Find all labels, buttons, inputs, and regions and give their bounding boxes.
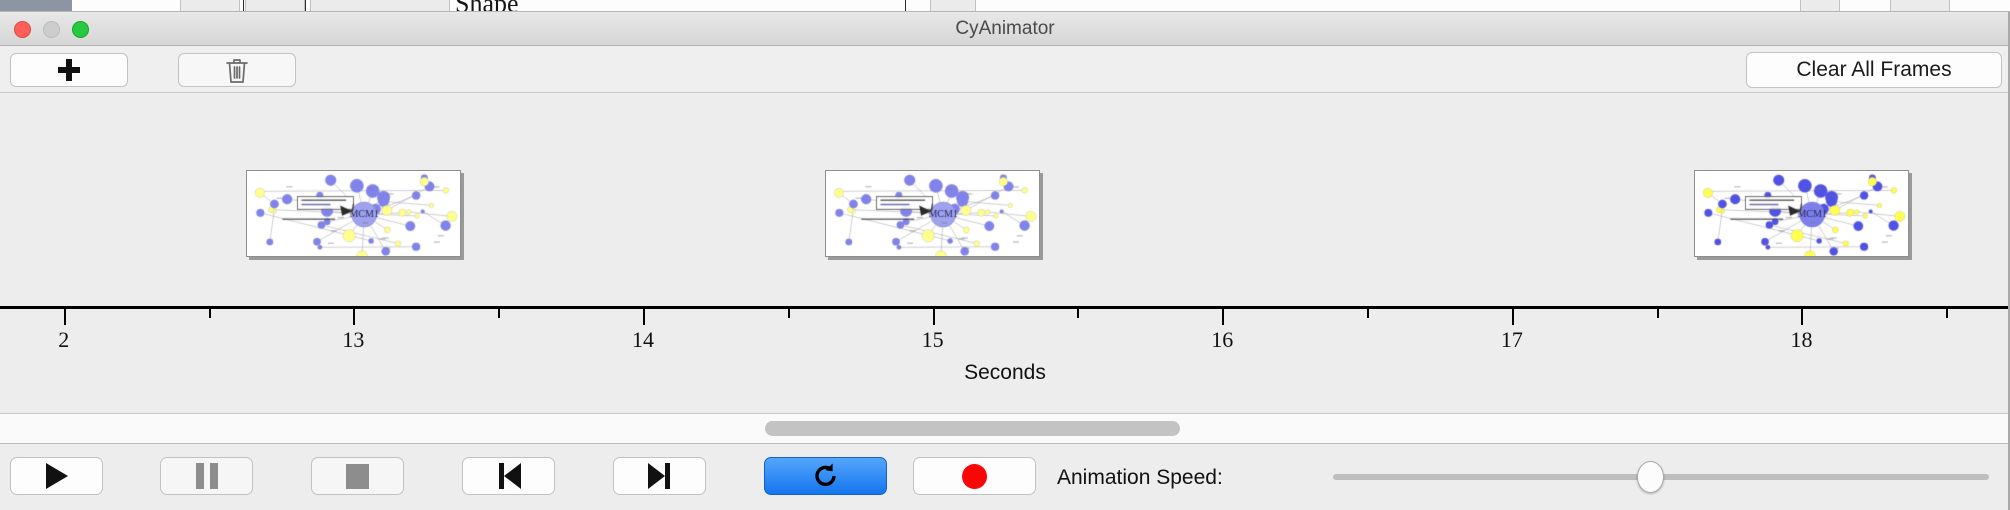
network-thumbnail-image bbox=[1695, 171, 1909, 257]
background-window-text: Shape bbox=[455, 0, 519, 12]
skip-next-icon bbox=[647, 463, 673, 489]
animation-speed-label: Animation Speed: bbox=[1057, 445, 1223, 510]
timeline-frame-thumbnail[interactable] bbox=[825, 170, 1040, 257]
timeline-panel[interactable]: 2131415161718 Seconds bbox=[0, 93, 2010, 414]
background-window-strip: Shape bbox=[0, 0, 2010, 12]
delete-frame-button[interactable] bbox=[178, 53, 296, 87]
axis-tick-label: 16 bbox=[1211, 327, 1233, 353]
axis-tick-major bbox=[643, 309, 645, 325]
axis-tick-minor bbox=[1367, 309, 1369, 318]
background-window-cell bbox=[1890, 0, 1950, 12]
background-window-divider bbox=[905, 0, 906, 12]
axis-tick-major bbox=[64, 309, 66, 325]
skip-previous-button[interactable] bbox=[462, 457, 555, 495]
pause-button[interactable] bbox=[160, 457, 253, 495]
cyanimator-window: Shape CyAnimator Clear All Frames 213141… bbox=[0, 0, 2010, 510]
background-window-cell bbox=[930, 0, 976, 12]
axis-tick-minor bbox=[788, 309, 790, 318]
axis-title: Seconds bbox=[0, 361, 2010, 385]
background-window-divider bbox=[243, 0, 244, 12]
network-thumbnail-image bbox=[247, 171, 461, 257]
animation-speed-slider-thumb[interactable] bbox=[1637, 461, 1664, 493]
axis-tick-major bbox=[1512, 309, 1514, 325]
network-thumbnail-image bbox=[826, 171, 1040, 257]
background-window-dark-cell bbox=[0, 0, 72, 12]
background-window-cell bbox=[310, 0, 450, 12]
trash-icon bbox=[225, 57, 249, 84]
axis-tick-minor bbox=[1077, 309, 1079, 318]
timeline-frame-thumbnail[interactable] bbox=[1694, 170, 1909, 257]
background-window-divider bbox=[305, 0, 306, 12]
axis-tick-minor bbox=[1657, 309, 1659, 318]
toolbar: Clear All Frames bbox=[0, 46, 2010, 93]
record-icon bbox=[962, 464, 987, 489]
add-frame-button[interactable] bbox=[10, 53, 128, 87]
axis-tick-major bbox=[1801, 309, 1803, 325]
titlebar: CyAnimator bbox=[0, 12, 2010, 46]
axis-tick-major bbox=[353, 309, 355, 325]
background-window-cell bbox=[1800, 0, 1840, 12]
axis-tick-label: 15 bbox=[922, 327, 944, 353]
background-window-cell bbox=[245, 0, 305, 12]
axis-tick-label: 14 bbox=[632, 327, 654, 353]
axis-tick-label: 2 bbox=[58, 327, 69, 353]
axis-tick-minor bbox=[209, 309, 211, 318]
timeline-axis bbox=[0, 306, 2010, 309]
loop-button[interactable] bbox=[764, 457, 887, 495]
axis-tick-label: 17 bbox=[1501, 327, 1523, 353]
stop-button[interactable] bbox=[311, 457, 404, 495]
scrollbar-thumb[interactable] bbox=[765, 421, 1180, 436]
clear-all-frames-label: Clear All Frames bbox=[1796, 58, 1951, 82]
skip-next-button[interactable] bbox=[613, 457, 706, 495]
axis-tick-major bbox=[933, 309, 935, 325]
plus-icon bbox=[58, 59, 80, 81]
pause-icon bbox=[196, 463, 218, 489]
background-window-cell bbox=[180, 0, 240, 12]
skip-previous-icon bbox=[496, 463, 522, 489]
axis-tick-label: 13 bbox=[342, 327, 364, 353]
clear-all-frames-button[interactable]: Clear All Frames bbox=[1746, 52, 2002, 88]
axis-tick-minor bbox=[1946, 309, 1948, 318]
axis-tick-label: 18 bbox=[1790, 327, 1812, 353]
play-button[interactable] bbox=[10, 457, 103, 495]
timeline-frame-thumbnail[interactable] bbox=[246, 170, 461, 257]
transport-bar: Animation Speed: bbox=[0, 445, 2010, 510]
window-title: CyAnimator bbox=[0, 12, 2010, 46]
stop-icon bbox=[346, 464, 369, 489]
axis-tick-minor bbox=[498, 309, 500, 318]
play-icon bbox=[46, 463, 68, 489]
loop-icon bbox=[812, 462, 840, 490]
axis-tick-major bbox=[1222, 309, 1224, 325]
record-button[interactable] bbox=[913, 457, 1036, 495]
timeline-scrollbar[interactable] bbox=[0, 414, 2010, 444]
